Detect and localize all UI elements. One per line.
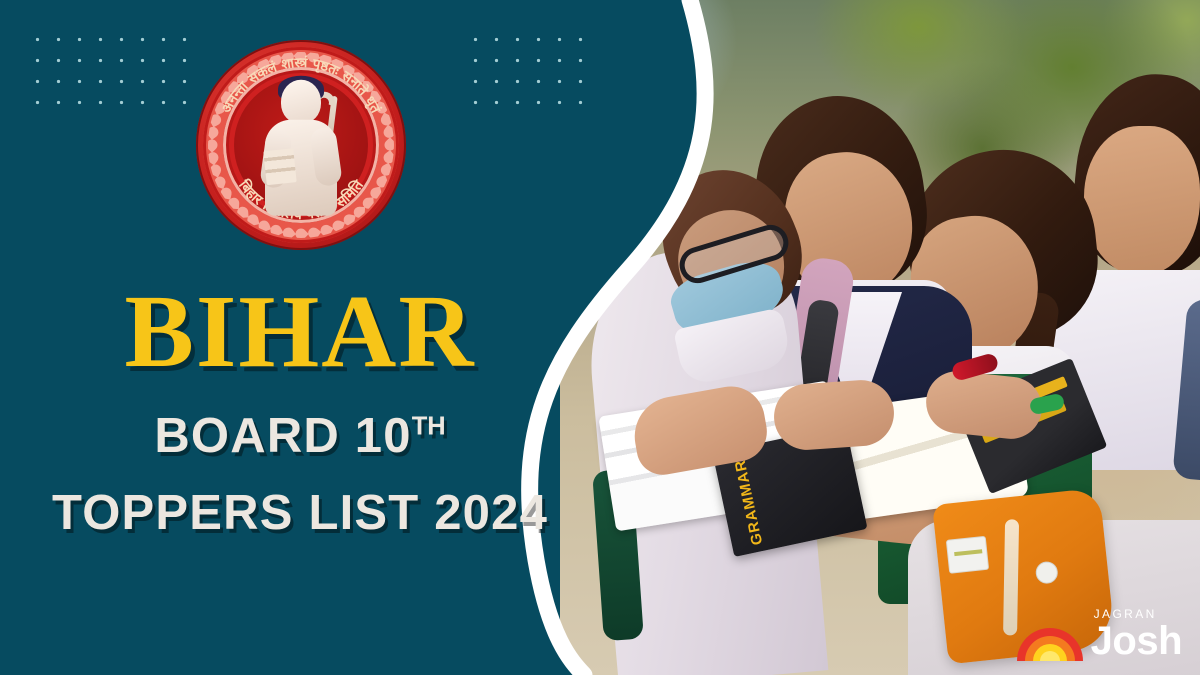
subtitle-line-2: TOPPERS LIST 2024 [0,485,600,541]
page-title: BIHAR [0,282,600,382]
banner-canvas: GRAMMAR [0,0,1200,675]
photo-background: GRAMMAR [560,0,1200,675]
logo-brand-main: Josh [1091,621,1182,661]
dot-grid-right [462,26,594,116]
backpack-button [1035,561,1059,585]
logo-wordmark: JAGRAN Josh [1091,608,1182,661]
seal-scholar-figure [255,80,347,216]
student-far-right-face [1084,126,1200,276]
subtitle-board-text: BOARD 10 [154,409,411,463]
seal-figure-scripture [263,148,296,185]
headline-block: BIHAR BOARD 10TH TOPPERS LIST 2024 [0,282,600,541]
backpack-label-tag [946,536,989,574]
students-photo: GRAMMAR [560,0,1200,675]
seal-figure-head [281,80,321,124]
book-spine-text: GRAMMAR [733,458,766,546]
jagran-josh-logo[interactable]: JAGRAN Josh [1017,599,1182,661]
dot-grid-left [24,26,198,116]
sunburst-icon [1017,623,1083,661]
bseb-seal-logo: अनन्ता सकलं शास्त्रं पृष्ठतः सनाते धृतं … [196,40,406,250]
subtitle-line-1: BOARD 10TH [0,408,600,464]
hand-turning-page [772,378,896,452]
ordinal-suffix: TH [412,413,446,441]
